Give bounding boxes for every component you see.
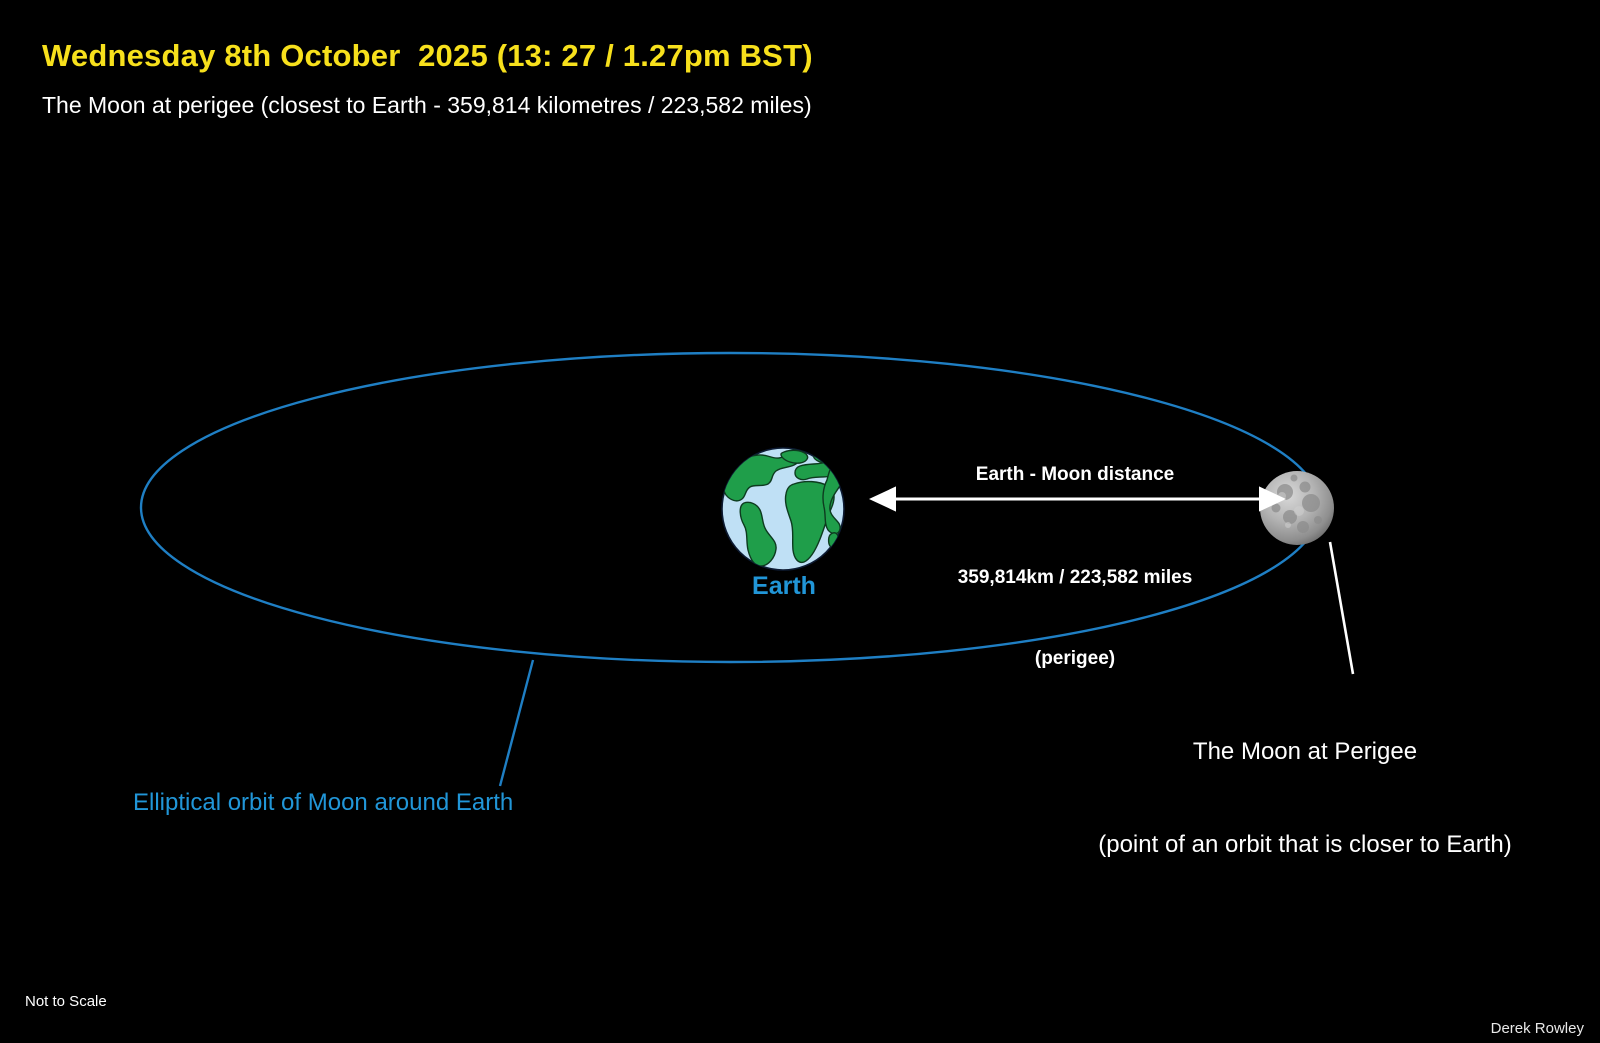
moon-leader-line <box>1330 542 1353 674</box>
distance-value-line1: 359,814km / 223,582 miles <box>860 565 1290 592</box>
orbit-label: Elliptical orbit of Moon around Earth <box>133 789 513 817</box>
earth-graphic <box>722 448 844 570</box>
perigee-note-line2: (point of an orbit that is closer to Ear… <box>1040 830 1570 861</box>
distance-value-line2: (perigee) <box>860 646 1290 673</box>
moon-crater <box>1291 475 1298 482</box>
moon-highlight <box>1294 506 1304 516</box>
moon-crater <box>1297 521 1309 533</box>
moon-crater <box>1302 494 1320 512</box>
orbit-leader-line <box>500 660 533 786</box>
credit-author: Derek Rowley <box>1431 1019 1584 1039</box>
credit-block: Derek Rowley www.derekscope.co.uk <box>1431 980 1584 1043</box>
moon-crater <box>1300 482 1311 493</box>
perigee-note-block: The Moon at Perigee (point of an orbit t… <box>1040 676 1570 922</box>
perigee-note-line1: The Moon at Perigee <box>1040 737 1570 768</box>
not-to-scale-note: Not to Scale <box>25 993 107 1010</box>
earth-label: Earth <box>722 572 846 601</box>
distance-caption: Earth - Moon distance <box>860 464 1290 486</box>
diagram-canvas: Wednesday 8th October 2025 (13: 27 / 1.2… <box>0 0 1600 1043</box>
moon-crater <box>1314 516 1322 524</box>
madagascar-shape <box>829 533 839 547</box>
